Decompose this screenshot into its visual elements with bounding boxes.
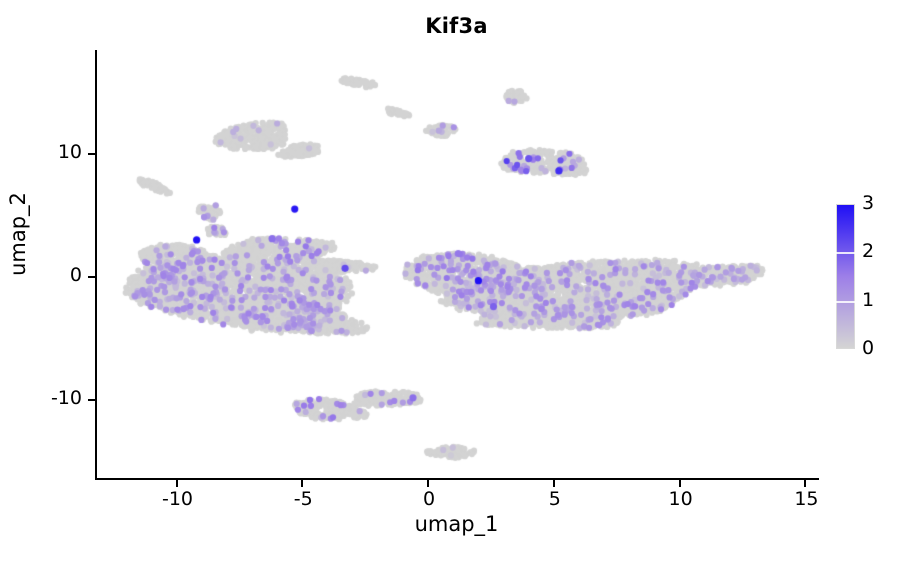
- colorbar-tick-label: 0: [862, 337, 902, 359]
- x-tick-label: 5: [525, 488, 585, 510]
- x-axis-spine: [95, 478, 819, 480]
- x-axis-label: umap_1: [95, 512, 818, 536]
- x-tick-mark: [679, 480, 681, 487]
- colorbar-tick-mark: [836, 301, 855, 303]
- y-tick-mark: [88, 399, 95, 401]
- x-tick-mark: [553, 480, 555, 487]
- colorbar-tick-mark: [836, 252, 855, 254]
- y-axis-label: umap_2: [6, 154, 30, 314]
- scatter-points-canvas: [96, 50, 818, 478]
- x-tick-mark: [301, 480, 303, 487]
- x-tick-label: 15: [776, 488, 836, 510]
- x-tick-label: -5: [273, 488, 333, 510]
- y-tick-label: -10: [10, 387, 82, 409]
- x-tick-label: 0: [399, 488, 459, 510]
- colorbar-gradient: [836, 204, 855, 349]
- x-tick-mark: [427, 480, 429, 487]
- x-tick-label: -10: [148, 488, 208, 510]
- colorbar-tick-label: 3: [862, 192, 902, 214]
- colorbar-tick-label: 1: [862, 289, 902, 311]
- y-tick-mark: [88, 153, 95, 155]
- colorbar: 0123: [836, 204, 908, 350]
- y-tick-mark: [88, 276, 95, 278]
- x-tick-mark: [804, 480, 806, 487]
- colorbar-tick-label: 2: [862, 240, 902, 262]
- page-title: Kif3a: [95, 14, 818, 38]
- y-axis-spine: [95, 50, 97, 480]
- x-tick-mark: [176, 480, 178, 487]
- umap-feature-plot-figure: Kif3a -10-5051015 -10010 umap_1 umap_2 0…: [0, 0, 911, 562]
- x-tick-label: 10: [651, 488, 711, 510]
